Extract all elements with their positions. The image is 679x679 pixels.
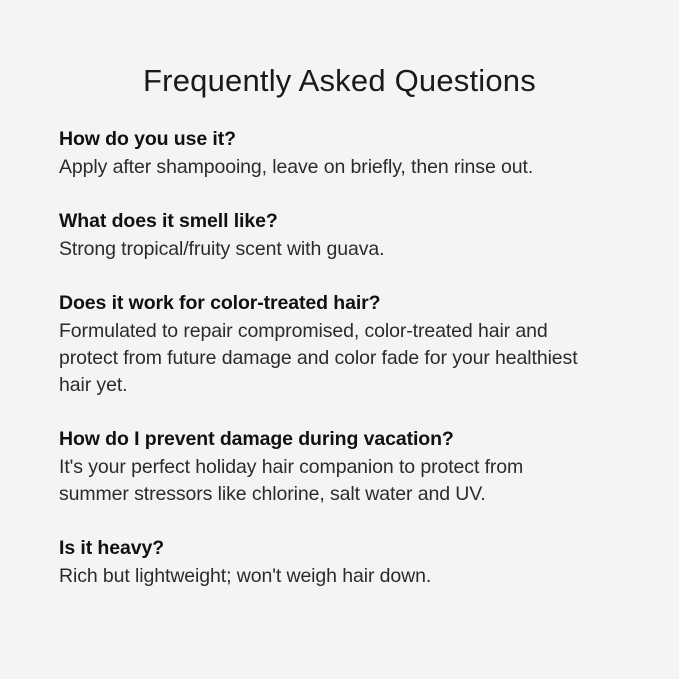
faq-question: What does it smell like? [59, 208, 586, 235]
faq-answer: Rich but lightweight; won't weigh hair d… [59, 563, 586, 590]
faq-answer: Strong tropical/fruity scent with guava. [59, 236, 586, 263]
faq-item: Does it work for color-treated hair? For… [59, 290, 586, 399]
faq-question: How do I prevent damage during vacation? [59, 426, 586, 453]
faq-item: How do I prevent damage during vacation?… [59, 426, 586, 508]
faq-answer: Formulated to repair compromised, color-… [59, 318, 586, 399]
faq-item: Is it heavy? Rich but lightweight; won't… [59, 535, 586, 590]
faq-question: How do you use it? [59, 126, 586, 153]
faq-question: Does it work for color-treated hair? [59, 290, 586, 317]
faq-answer: Apply after shampooing, leave on briefly… [59, 154, 586, 181]
faq-page: Frequently Asked Questions How do you us… [0, 0, 679, 679]
faq-item: How do you use it? Apply after shampooin… [59, 126, 586, 181]
faq-item: What does it smell like? Strong tropical… [59, 208, 586, 263]
faq-list: How do you use it? Apply after shampooin… [59, 126, 586, 590]
faq-question: Is it heavy? [59, 535, 586, 562]
page-title: Frequently Asked Questions [0, 61, 679, 101]
faq-answer: It's your perfect holiday hair companion… [59, 454, 586, 508]
